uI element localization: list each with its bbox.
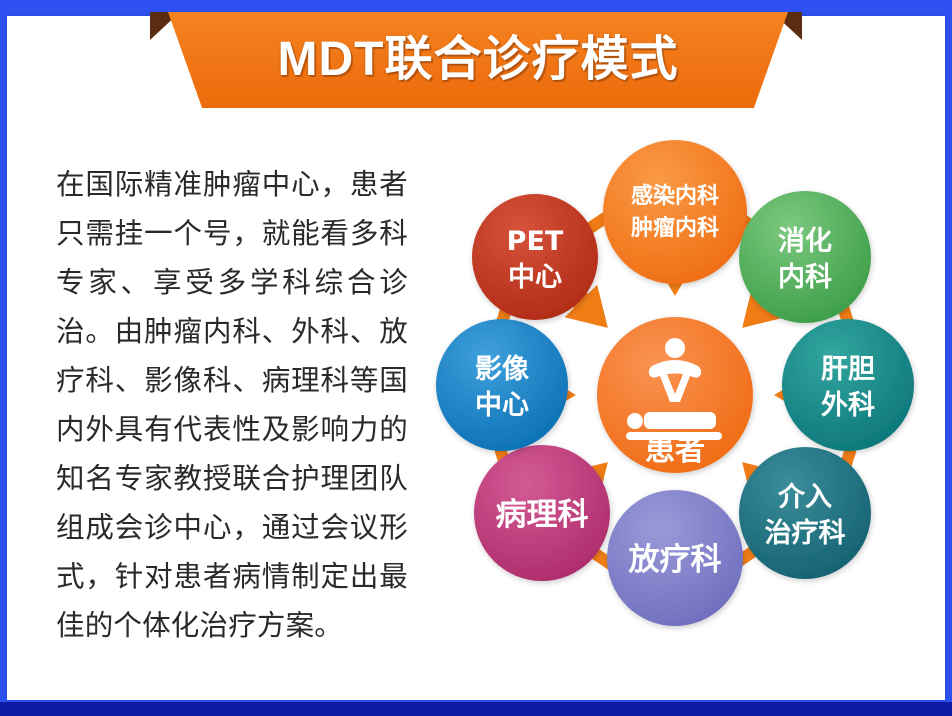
node-label-line2: 中心 — [475, 390, 529, 421]
node-label-line2: 中心 — [508, 262, 562, 293]
node-label-line2: 肿瘤内科 — [631, 215, 719, 241]
node-label-line2: 外科 — [821, 390, 875, 421]
node-label-line2: 内科 — [778, 262, 832, 293]
node-imaging-center[interactable]: 影像 中心 — [436, 319, 568, 451]
node-circle — [739, 447, 871, 579]
node-label-line1: 消化 — [778, 226, 832, 257]
node-hepatobiliary[interactable]: 肝胆 外科 — [782, 319, 914, 451]
node-circle — [782, 319, 914, 451]
node-circle — [603, 140, 747, 284]
node-interventional[interactable]: 介入 治疗科 — [739, 447, 871, 579]
node-pathology[interactable]: 病理科 — [474, 445, 610, 581]
description-paragraph: 在国际精准肿瘤中心，患者只需挂一个号，就能看多科专家、享受多学科综合诊治。由肿瘤… — [56, 160, 408, 650]
hub-label: 患者 — [645, 433, 705, 468]
node-gastroenterology[interactable]: 消化 内科 — [739, 191, 871, 323]
node-circle — [472, 194, 598, 320]
node-circle — [739, 191, 871, 323]
node-label-line1: 病理科 — [496, 497, 589, 533]
node-label-line1: PET — [507, 226, 564, 257]
node-label-line2: 治疗科 — [765, 517, 846, 549]
node-label-line1: 影像 — [475, 354, 529, 385]
node-radiotherapy[interactable]: 放疗科 — [607, 490, 743, 626]
frame-bottom-edge — [0, 702, 952, 716]
node-label-line1: 肝胆 — [821, 354, 875, 385]
node-circle — [436, 319, 568, 451]
node-pet-center[interactable]: PET 中心 — [472, 194, 598, 320]
node-label-line1: 放疗科 — [628, 542, 722, 578]
node-infection-oncology[interactable]: 感染内科 肿瘤内科 — [603, 140, 747, 284]
mdt-diagram: 感染内科 肿瘤内科 消化 内科 肝胆 外科 介入 治疗科 — [420, 140, 930, 650]
hub-patient[interactable]: 患者 — [597, 317, 753, 473]
frame-top-edge — [0, 0, 952, 16]
poster-root: MDT联合诊疗模式 在国际精准肿瘤中心，患者只需挂一个号，就能看多科专家、享受多… — [0, 0, 952, 716]
node-label-line1: 介入 — [777, 482, 832, 513]
node-label-line1: 感染内科 — [631, 183, 719, 209]
